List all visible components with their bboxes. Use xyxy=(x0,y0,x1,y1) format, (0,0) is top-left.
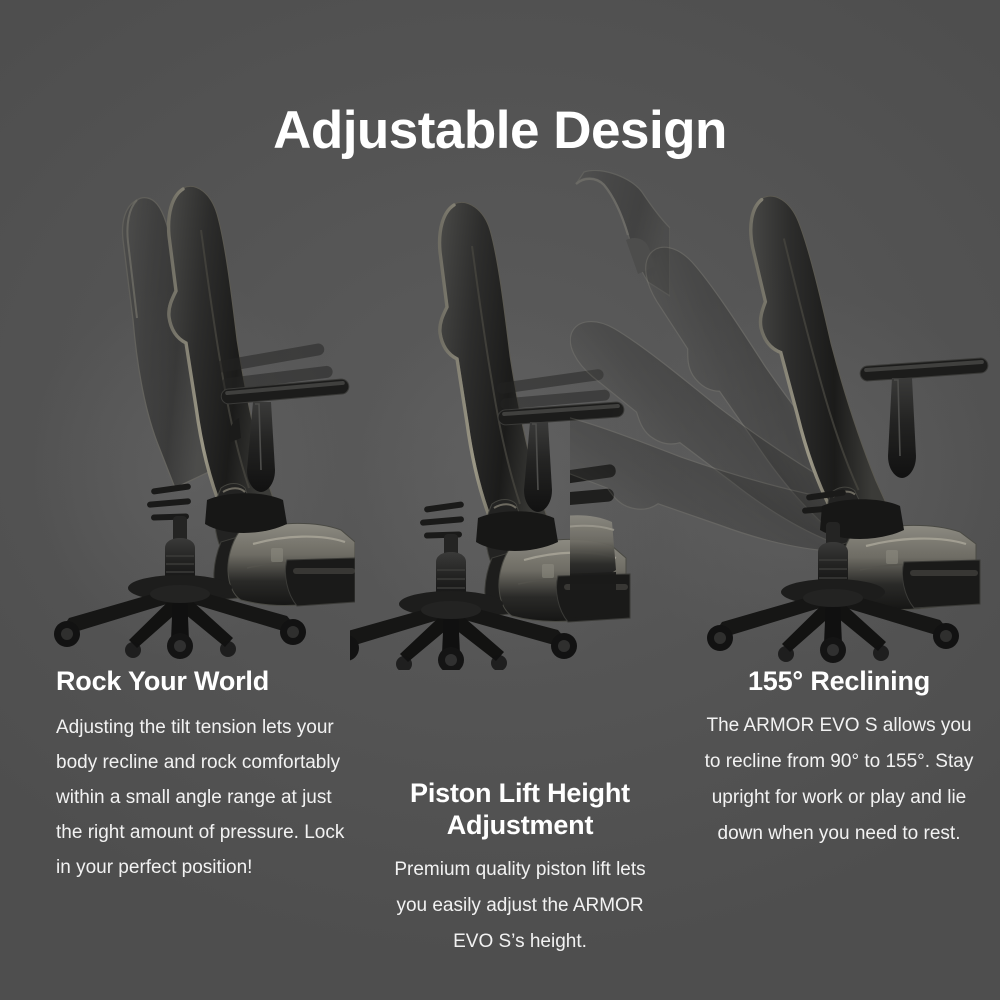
tilt-mechanism xyxy=(205,493,287,533)
feature-155-reclining: 155° Reclining The ARMOR EVO S allows yo… xyxy=(700,666,978,852)
chair-image-155-reclining xyxy=(570,170,990,670)
footrest xyxy=(902,560,980,608)
height-adjust-lever xyxy=(420,501,464,538)
tilt-tension-lever xyxy=(147,483,191,520)
feature-body-rock-your-world: Adjusting the tilt tension lets your bod… xyxy=(56,710,348,885)
feature-heading-piston-lift: Piston Lift Height Adjustment xyxy=(380,778,660,842)
feature-body-155-reclining: The ARMOR EVO S allows you to recline fr… xyxy=(700,708,978,852)
feature-rock-your-world: Rock Your World Adjusting the tilt tensi… xyxy=(56,666,348,885)
page-title: Adjustable Design xyxy=(0,104,1000,157)
product-feature-banner: Adjustable Design xyxy=(0,0,1000,1000)
chair-image-rock-your-world xyxy=(25,170,355,670)
feature-body-piston-lift: Premium quality piston lift lets you eas… xyxy=(380,852,660,960)
tilt-mechanism xyxy=(476,511,558,551)
footrest xyxy=(285,558,355,606)
feature-heading-rock-your-world: Rock Your World xyxy=(56,666,348,698)
chair-image-row xyxy=(0,170,1000,670)
feature-heading-155-reclining: 155° Reclining xyxy=(700,666,978,698)
feature-piston-lift: Piston Lift Height Adjustment Premium qu… xyxy=(380,778,660,960)
